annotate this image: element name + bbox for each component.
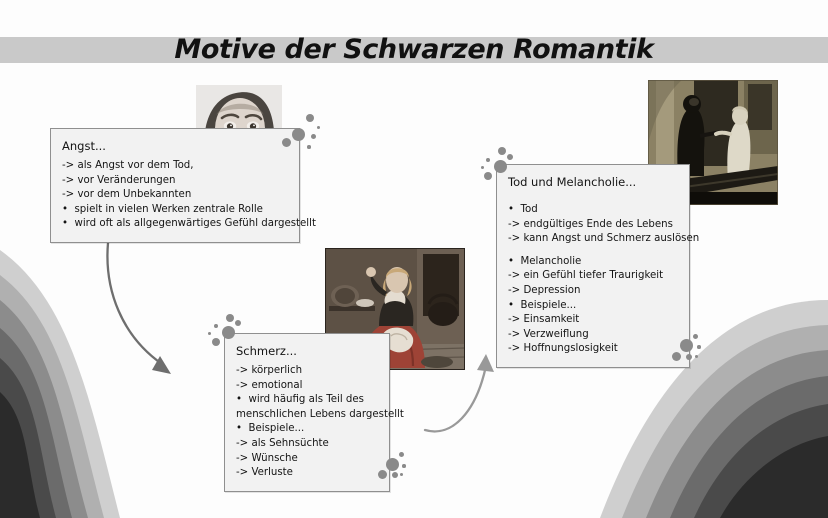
list-item: -> als Sehnsüchte xyxy=(236,437,378,452)
list-item: -> endgültiges Ende des Lebens xyxy=(508,218,678,233)
list-item: • Beispiele... xyxy=(236,422,378,437)
note-schmerz-list: -> körperlich -> emotional • wird häufig… xyxy=(236,364,378,481)
list-item: -> körperlich xyxy=(236,364,378,379)
list-item: • spielt in vielen Werken zentrale Rolle xyxy=(62,203,288,218)
list-item: -> ein Gefühl tiefer Traurigkeit xyxy=(508,269,678,284)
list-item: -> Verluste xyxy=(236,466,378,481)
note-angst[interactable]: Angst... -> als Angst vor dem Tod, -> vo… xyxy=(50,128,300,243)
list-item: • Beispiele... xyxy=(508,299,678,314)
page-title: Motive der Schwarzen Romantik xyxy=(0,21,828,77)
list-item: -> kann Angst und Schmerz auslösen xyxy=(508,232,678,247)
note-tod[interactable]: Tod und Melancholie... • Tod -> endgülti… xyxy=(496,164,690,368)
list-item: -> Depression xyxy=(508,284,678,299)
note-tod-list: • Tod -> endgültiges Ende des Lebens -> … xyxy=(508,195,678,357)
list-item: -> Einsamkeit xyxy=(508,313,678,328)
list-item: -> emotional xyxy=(236,379,378,394)
note-schmerz-heading: Schmerz... xyxy=(236,343,378,359)
list-item: -> Verzweiflung xyxy=(508,328,678,343)
list-spacer xyxy=(508,247,678,255)
list-item: -> vor dem Unbekannten xyxy=(62,188,288,203)
note-angst-heading: Angst... xyxy=(62,138,288,154)
list-item: -> als Angst vor dem Tod, xyxy=(62,159,288,174)
list-item: • Melancholie xyxy=(508,255,678,270)
list-spacer xyxy=(508,195,678,203)
slide-canvas: Motive der Schwarzen Romantik xyxy=(0,0,828,518)
note-schmerz[interactable]: Schmerz... -> körperlich -> emotional • … xyxy=(224,333,390,492)
list-item: • wird oft als allgegenwärtiges Gefühl d… xyxy=(62,217,288,232)
list-item: -> vor Veränderungen xyxy=(62,174,288,189)
list-item: menschlichen Lebens dargestellt xyxy=(236,408,378,423)
list-item: -> Hoffnungslosigkeit xyxy=(508,342,678,357)
note-angst-list: -> als Angst vor dem Tod, -> vor Verände… xyxy=(62,159,288,232)
list-item: • wird häufig als Teil des xyxy=(236,393,378,408)
note-tod-heading: Tod und Melancholie... xyxy=(508,174,678,190)
list-item: -> Wünsche xyxy=(236,452,378,467)
list-item: • Tod xyxy=(508,203,678,218)
